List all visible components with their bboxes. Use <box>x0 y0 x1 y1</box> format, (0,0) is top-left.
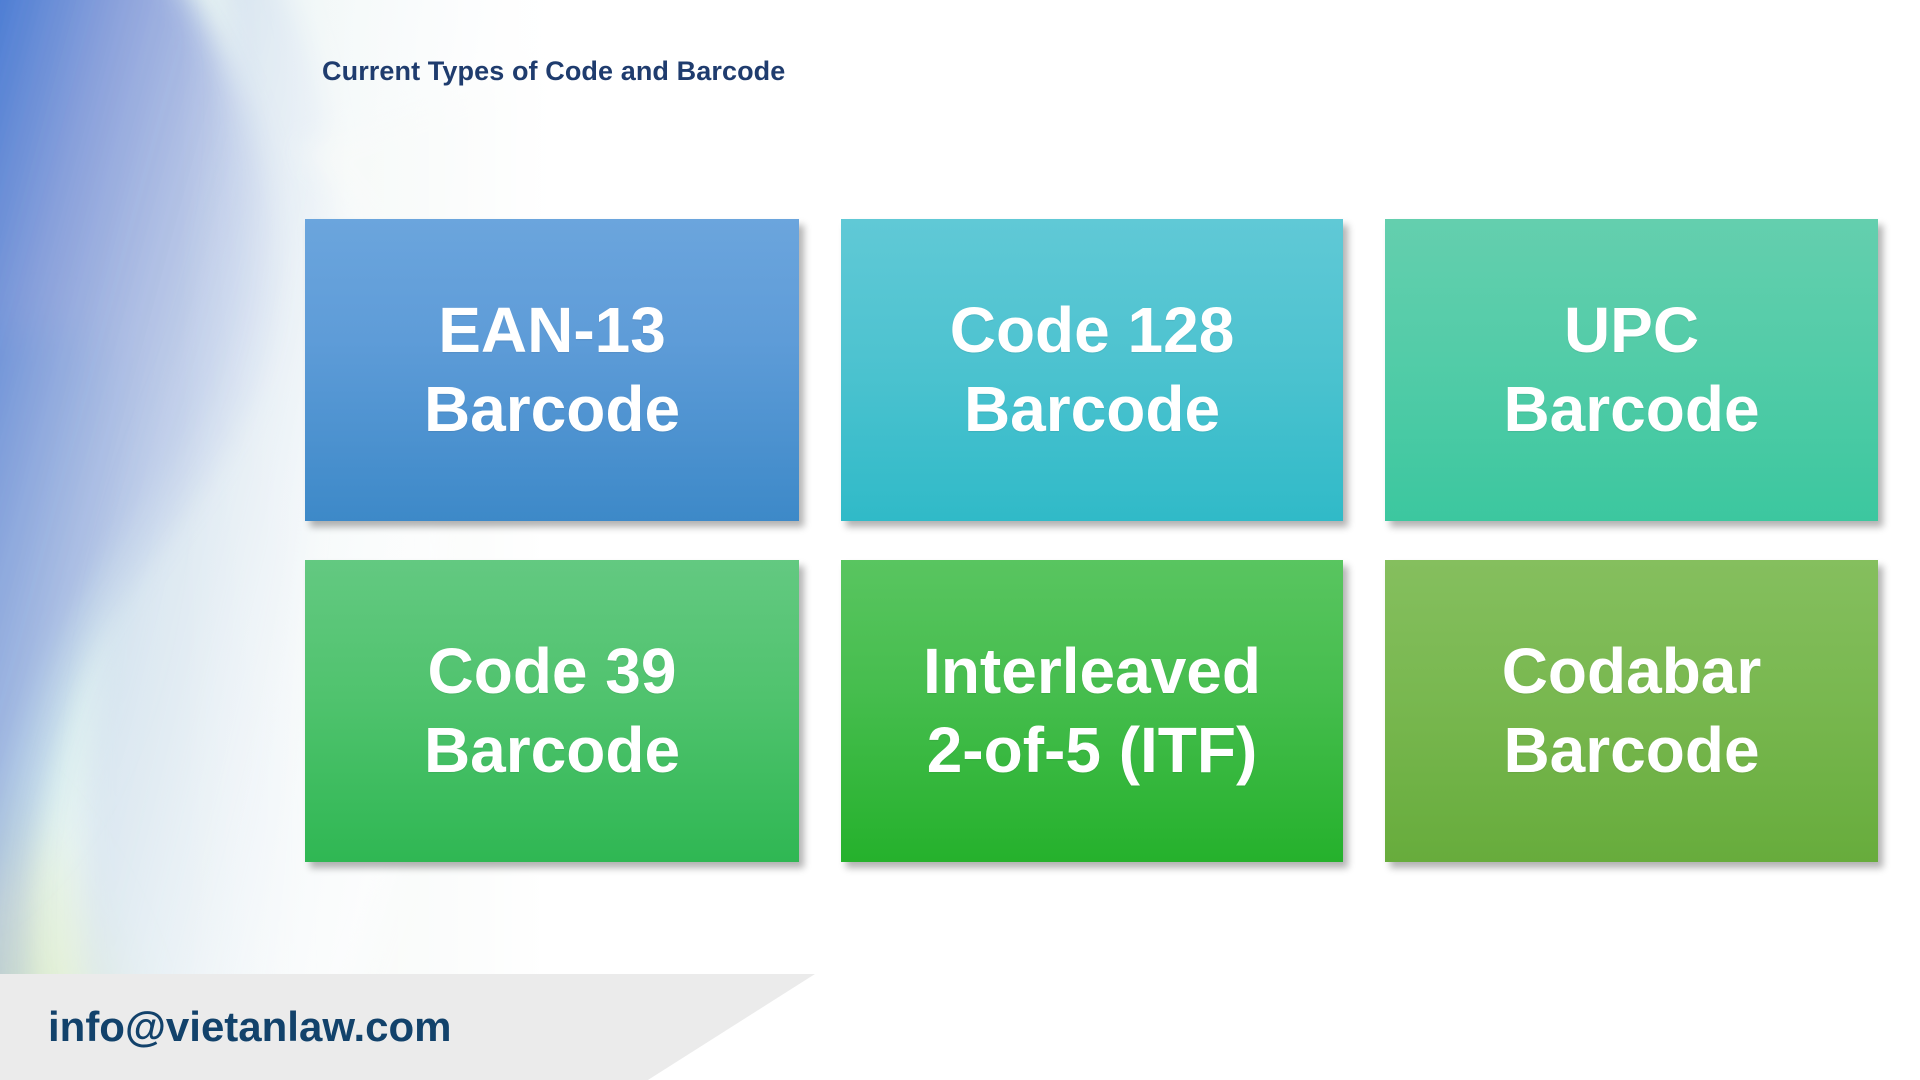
card-code-39-line2: Barcode <box>424 711 680 790</box>
card-interleaved-2-of-5[interactable]: Interleaved 2-of-5 (ITF) <box>841 560 1343 862</box>
card-upc[interactable]: UPC Barcode <box>1385 219 1878 521</box>
card-code-128[interactable]: Code 128 Barcode <box>841 219 1343 521</box>
footer-banner: info@vietanlaw.com <box>0 974 815 1080</box>
card-code-128-line1: Code 128 <box>950 291 1235 370</box>
card-code-128-line2: Barcode <box>964 370 1220 449</box>
card-ean-13[interactable]: EAN-13 Barcode <box>305 219 799 521</box>
card-ean-13-line2: Barcode <box>424 370 680 449</box>
card-codabar-line2: Barcode <box>1503 711 1759 790</box>
card-code-39-line1: Code 39 <box>428 632 677 711</box>
barcode-type-grid: EAN-13 Barcode Code 128 Barcode UPC Barc… <box>305 219 1878 862</box>
slide-canvas: Current Types of Code and Barcode EAN-13… <box>0 0 1920 1080</box>
footer-email[interactable]: info@vietanlaw.com <box>48 1003 451 1051</box>
card-ean-13-line1: EAN-13 <box>438 291 666 370</box>
page-title: Current Types of Code and Barcode <box>322 56 785 87</box>
card-interleaved-2-of-5-line2: 2-of-5 (ITF) <box>927 711 1258 790</box>
card-upc-line1: UPC <box>1564 291 1699 370</box>
card-interleaved-2-of-5-line1: Interleaved <box>923 632 1261 711</box>
card-codabar-line1: Codabar <box>1502 632 1762 711</box>
card-code-39[interactable]: Code 39 Barcode <box>305 560 799 862</box>
card-upc-line2: Barcode <box>1503 370 1759 449</box>
card-codabar[interactable]: Codabar Barcode <box>1385 560 1878 862</box>
